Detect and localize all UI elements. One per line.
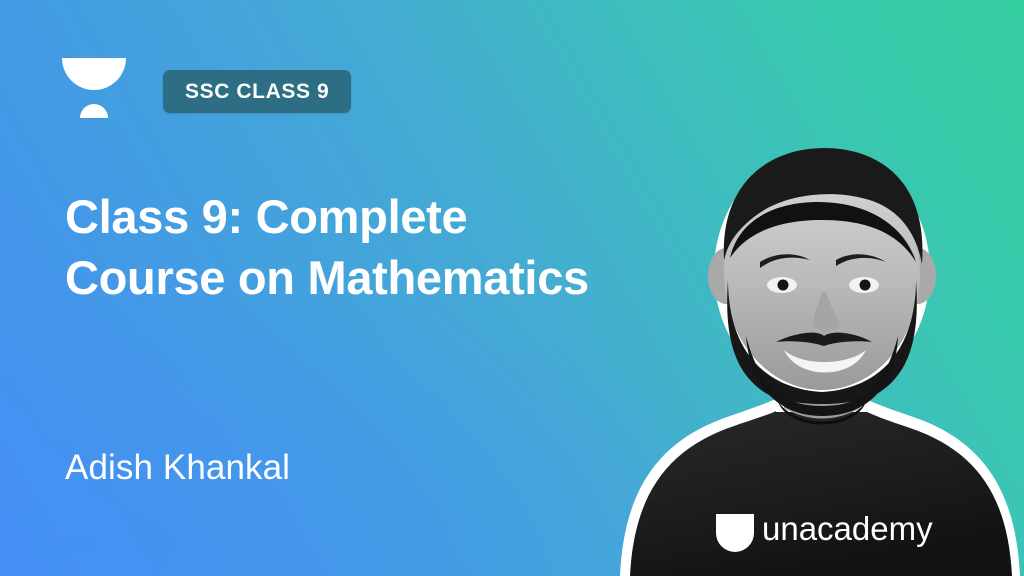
chalice-bowl-shape bbox=[62, 58, 126, 90]
instructor-name: Adish Khankal bbox=[65, 448, 290, 488]
tshirt-unacademy-logo: unacademy bbox=[716, 510, 933, 552]
chalice-base-shape bbox=[80, 104, 108, 118]
svg-text:unacademy: unacademy bbox=[762, 510, 933, 547]
course-thumbnail-card: SSC CLASS 9 Class 9: Complete Course on … bbox=[0, 0, 1024, 576]
instructor-portrait: unacademy bbox=[580, 140, 1024, 576]
course-title: Class 9: Complete Course on Mathematics bbox=[65, 186, 665, 308]
portrait-tshirt bbox=[630, 398, 1012, 576]
course-title-line-1: Class 9: Complete bbox=[65, 186, 665, 247]
course-title-line-2: Course on Mathematics bbox=[65, 247, 665, 308]
category-badge[interactable]: SSC CLASS 9 bbox=[163, 70, 351, 113]
unacademy-chalice-icon bbox=[62, 58, 126, 124]
